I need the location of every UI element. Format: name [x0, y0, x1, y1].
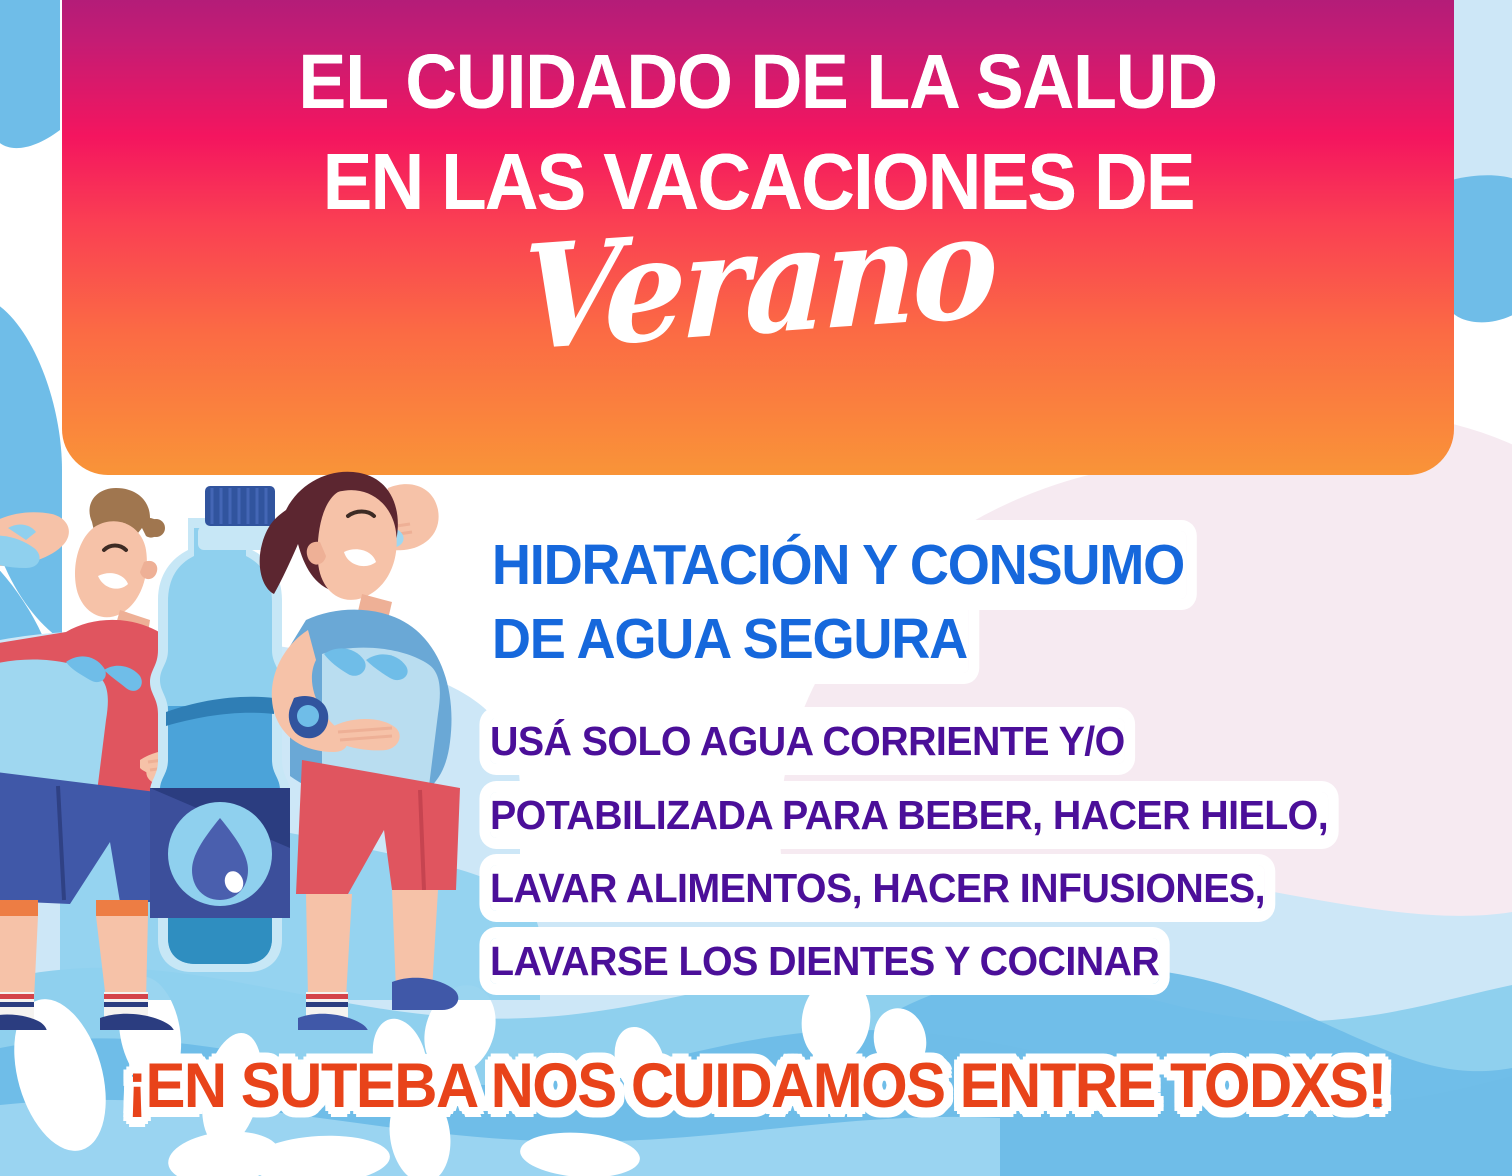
body-line-1: USÁ SOLO AGUA CORRIENTE Y/O	[490, 718, 1125, 764]
water-drop-icon	[168, 802, 272, 906]
right-edge-brush-shapes	[1452, 0, 1512, 322]
body-line-4: LAVARSE LOS DIENTES Y COCINAR	[490, 938, 1159, 984]
headline-line-2: DE AGUA SEGURA	[490, 605, 969, 673]
section-headline: HIDRATACIÓN Y CONSUMO DE AGUA SEGURA	[490, 528, 1421, 676]
body-line-2: POTABILIZADA PARA BEBER, HACER HIELO,	[490, 792, 1328, 838]
headline-line-1: HIDRATACIÓN Y CONSUMO	[490, 531, 1186, 599]
main-content: HIDRATACIÓN Y CONSUMO DE AGUA SEGURA USÁ…	[490, 528, 1470, 1002]
title-line-1: EL CUIDADO DE LA SALUD	[299, 44, 1217, 120]
characters-illustration	[0, 470, 540, 1030]
footer-slogan-wrap: ¡EN SUTEBA NOS CUIDAMOS ENTRE TODXS!	[0, 1050, 1512, 1122]
title-script-word: Verano	[519, 195, 997, 372]
body-line-3: LAVAR ALIMENTOS, HACER INFUSIONES,	[490, 865, 1265, 911]
illustration-svg	[0, 470, 540, 1030]
poster-root: EL CUIDADO DE LA SALUD EN LAS VACACIONES…	[0, 0, 1512, 1176]
header-banner: EL CUIDADO DE LA SALUD EN LAS VACACIONES…	[62, 0, 1454, 475]
section-body: USÁ SOLO AGUA CORRIENTE Y/O POTABILIZADA…	[490, 708, 1431, 995]
woman-figure	[260, 472, 460, 1030]
footer-slogan: ¡EN SUTEBA NOS CUIDAMOS ENTRE TODXS!	[127, 1050, 1386, 1122]
